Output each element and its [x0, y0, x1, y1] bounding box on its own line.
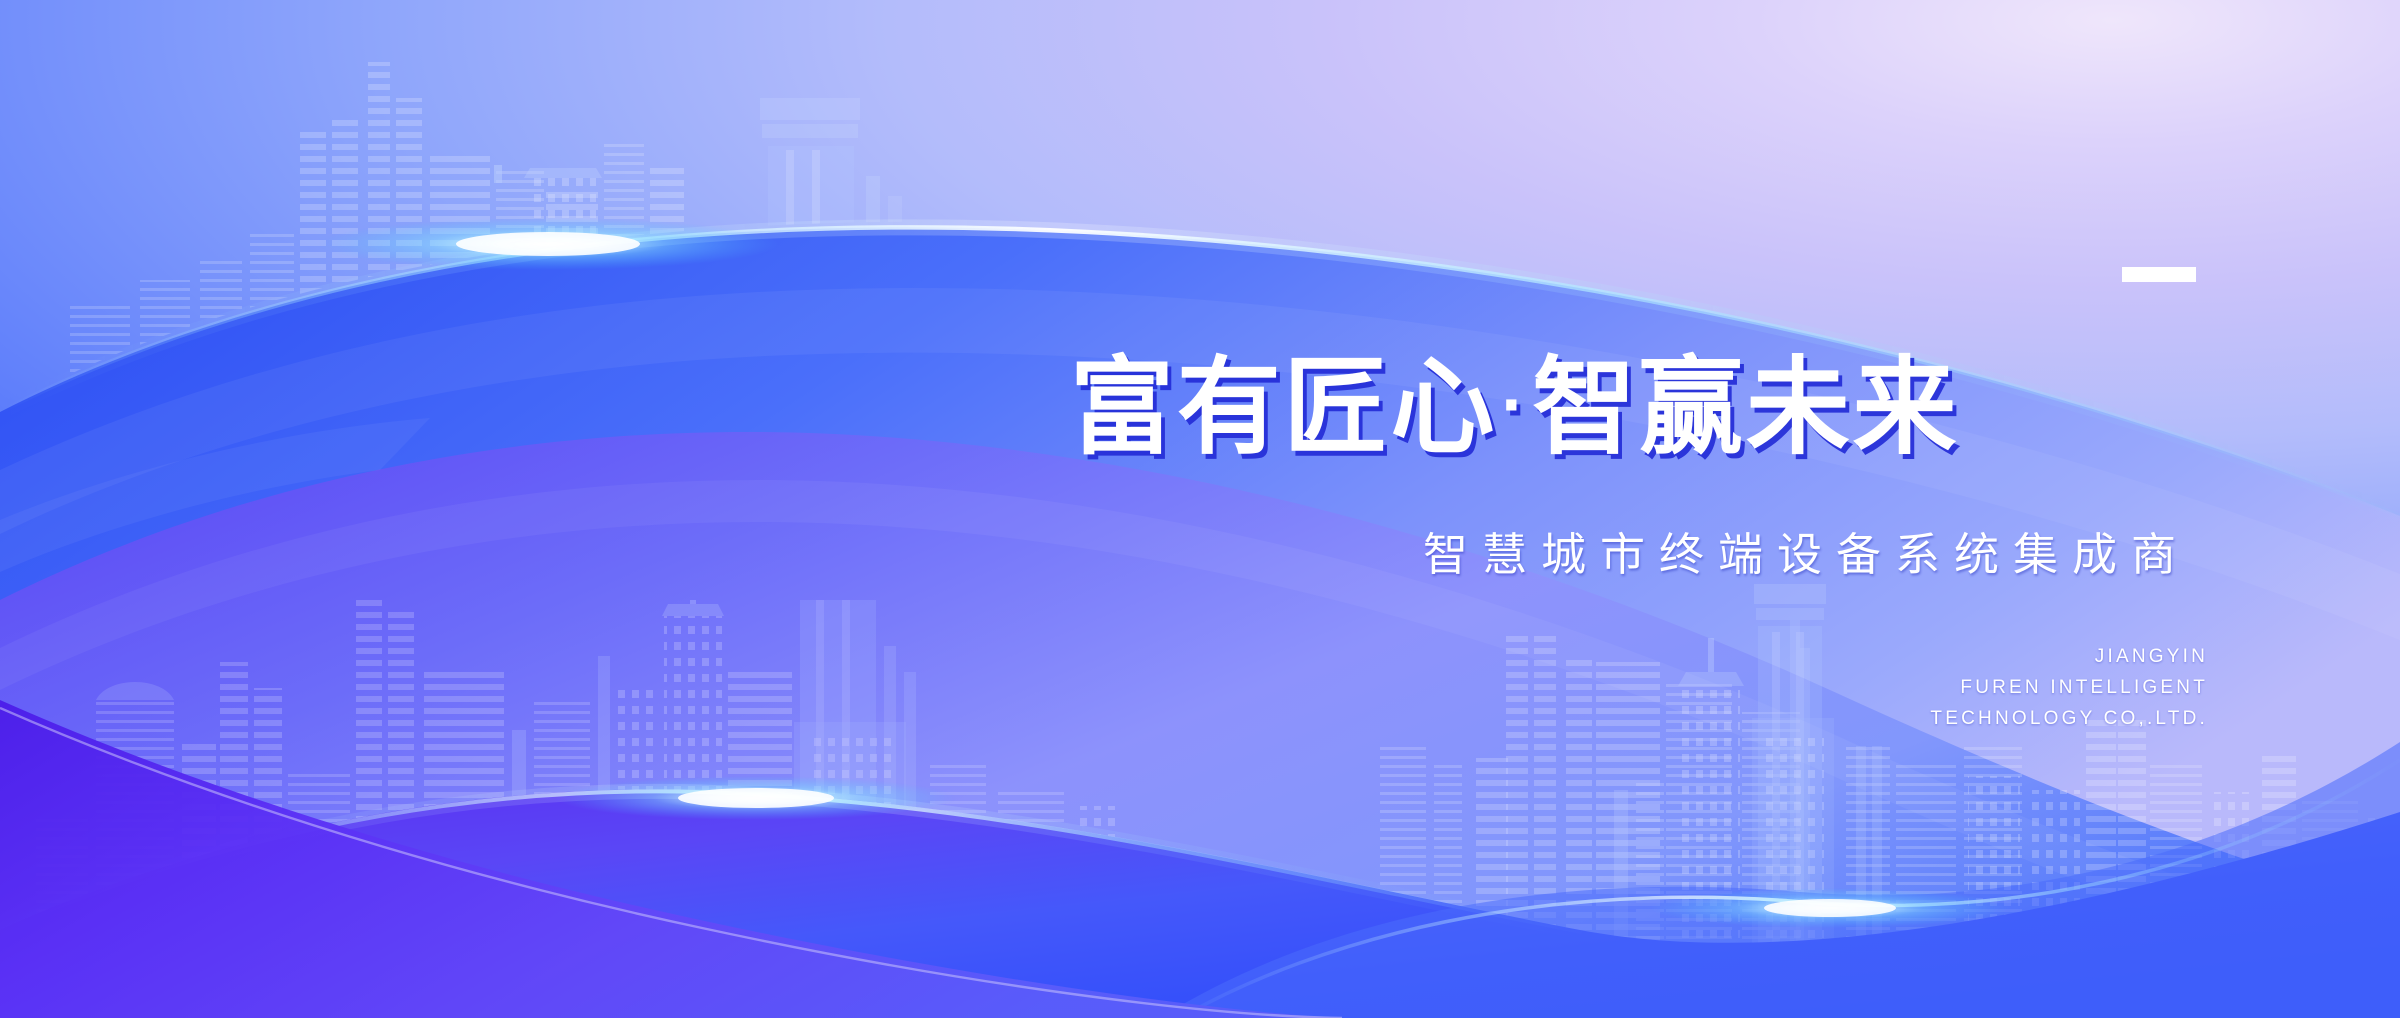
company-line-3: TECHNOLOGY CO,.LTD. [1930, 704, 2208, 735]
headline-part-2: 智赢未来 [1532, 349, 1959, 467]
company-line-2: FUREN INTELLIGENT [1930, 673, 2208, 704]
headline-part-1: 富有匠心 [1070, 349, 1497, 467]
promotional-banner: 富有匠心·智赢未来 智慧城市终端设备系统集成商 JIANGYIN FUREN I… [0, 0, 2400, 1018]
accent-dash [2122, 267, 2196, 282]
page-title: 富有匠心·智赢未来 [1070, 352, 2192, 464]
company-line-1: JIANGYIN [1930, 642, 2208, 673]
subtitle: 智慧城市终端设备系统集成商 [1423, 518, 2190, 583]
company-name: JIANGYIN FUREN INTELLIGENT TECHNOLOGY CO… [1930, 642, 2208, 734]
background-artwork [0, 0, 2400, 1018]
headline-separator: · [1497, 363, 1532, 446]
